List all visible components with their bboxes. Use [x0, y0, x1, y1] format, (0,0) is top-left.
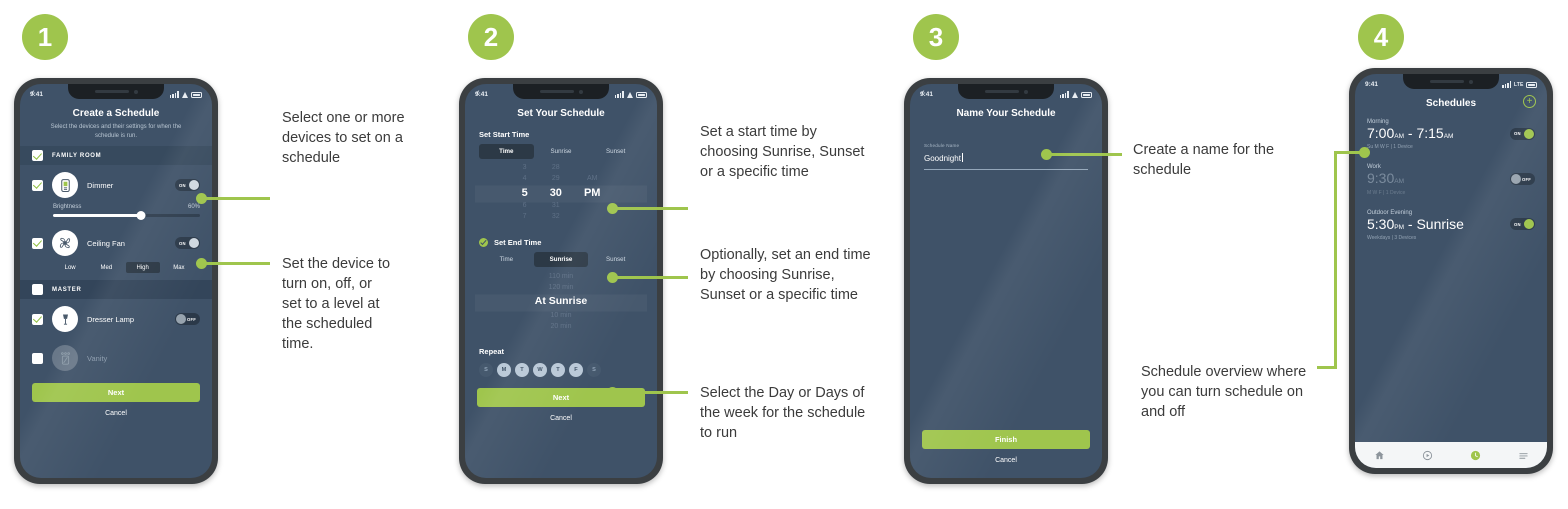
schedule-row-morning[interactable]: Morning 7:00AM - 7:15AM ON Su M W F | 1 … — [1355, 111, 1547, 156]
back-button[interactable]: ‹ — [31, 88, 35, 99]
front-camera — [579, 90, 583, 94]
schedule-start-meridiem: AM — [1394, 178, 1404, 185]
toggle-knob — [1511, 174, 1521, 184]
back-button[interactable]: ‹ — [921, 88, 925, 99]
phone-screen-3: 9:41 ‹ Name Your Schedule Schedule Name … — [910, 84, 1102, 478]
hour-option[interactable]: 6 — [523, 201, 527, 212]
phone-mockup-2: 9:41 ‹ Set Your Schedule Set Start Time … — [459, 78, 663, 484]
schedule-time: 9:30AM — [1367, 171, 1510, 186]
toggle-label: ON — [1514, 131, 1521, 136]
schedule-name-field[interactable]: Schedule Name Goodnight — [924, 143, 1088, 170]
meridiem-selected[interactable]: PM — [584, 185, 601, 202]
schedule-start-time: 5:30 — [1367, 216, 1394, 232]
add-schedule-button[interactable]: + — [1523, 95, 1536, 108]
cancel-button[interactable]: Cancel — [465, 407, 657, 430]
hour-option[interactable]: 4 — [523, 174, 527, 185]
signal-icon — [1060, 92, 1069, 98]
phone-mockup-4: 9:41 LTE Schedules + Morning 7:00AM - 7:… — [1349, 68, 1553, 474]
device-toggle[interactable]: OFF — [175, 313, 200, 325]
signal-icon — [615, 92, 624, 98]
toggle-knob — [1524, 219, 1534, 229]
annotation-3: Set a start time by choosing Sunrise, Su… — [700, 122, 875, 182]
room-label: MASTER — [52, 287, 82, 293]
toggle-label: ON — [179, 241, 186, 246]
schedule-time: 5:30PM - Sunrise — [1367, 217, 1510, 232]
device-checkbox[interactable] — [32, 353, 43, 364]
device-name: Vanity — [87, 354, 200, 363]
tab-sunrise[interactable]: Sunrise — [534, 144, 589, 159]
cancel-button[interactable]: Cancel — [910, 449, 1102, 472]
lte-label: LTE — [1514, 82, 1524, 88]
phone-mockup-3: 9:41 ‹ Name Your Schedule Schedule Name … — [904, 78, 1108, 484]
meridiem-option[interactable] — [591, 163, 593, 174]
toggle-label: ON — [1514, 222, 1521, 227]
device-row-dimmer[interactable]: Dimmer ON — [20, 165, 212, 204]
toggle-label: OFF — [1522, 177, 1531, 182]
speaker-grille — [985, 90, 1019, 93]
repeat-label: Repeat — [479, 347, 504, 356]
brightness-slider-block[interactable]: Brightness 60% — [20, 204, 212, 223]
device-checkbox[interactable] — [32, 180, 43, 191]
minute-option[interactable]: 28 — [552, 163, 560, 174]
fan-speed-selector[interactable]: Low Med High Max — [20, 262, 212, 280]
device-row-dresser-lamp[interactable]: Dresser Lamp OFF — [20, 299, 212, 338]
page-title: Create a Schedule — [20, 102, 212, 121]
battery-icon — [1526, 82, 1537, 88]
start-time-label: Set Start Time — [479, 130, 529, 139]
day-wednesday[interactable]: W — [533, 363, 547, 377]
hour-option[interactable]: 3 — [523, 163, 527, 174]
schedule-name-value: Goodnight — [924, 154, 961, 163]
device-name: Dimmer — [87, 181, 166, 190]
page-subtitle: Select the devices and their settings fo… — [20, 121, 212, 146]
vanity-icon — [52, 345, 78, 371]
range-dash: - — [1408, 125, 1413, 141]
start-time-picker[interactable]: 3 4 5 6 7 28 29 30 31 32 AM PM — [465, 159, 657, 229]
clock-icon[interactable] — [1470, 450, 1481, 461]
meridiem-option[interactable] — [591, 201, 593, 212]
hour-column[interactable]: 3 4 5 6 7 — [522, 163, 528, 223]
battery-icon — [1081, 92, 1092, 98]
brightness-label: Brightness — [53, 204, 81, 210]
range-dash: - — [1408, 216, 1413, 232]
schedule-subtitle: Weekdays | 3 Devices — [1367, 235, 1535, 241]
step-badge-3: 3 — [913, 14, 959, 60]
notch — [513, 84, 609, 99]
brightness-slider-fill — [53, 214, 141, 217]
annotation-2: Set the device to turn on, off, or set t… — [282, 254, 392, 354]
step-badge-4: 4 — [1358, 14, 1404, 60]
text-caret — [962, 153, 963, 162]
schedule-name-label: Schedule Name — [924, 143, 1088, 148]
step-number: 3 — [929, 24, 943, 50]
day-sunday[interactable]: S — [479, 363, 493, 377]
tab-sunset[interactable]: Sunset — [588, 144, 643, 159]
dimmer-icon — [52, 172, 78, 198]
schedule-end-meridiem: AM — [1444, 133, 1454, 140]
phone-screen-1: 9:41 ‹ Create a Schedule Select the devi… — [20, 84, 212, 478]
next-button[interactable]: Next — [32, 383, 200, 402]
minute-option[interactable]: 31 — [552, 201, 560, 212]
device-checkbox[interactable] — [32, 238, 43, 249]
step-badge-2: 2 — [468, 14, 514, 60]
finish-button[interactable]: Finish — [922, 430, 1090, 449]
start-time-mode-tabs[interactable]: Time Sunrise Sunset — [479, 144, 643, 159]
schedule-toggle[interactable]: OFF — [1510, 173, 1535, 185]
phone-mockup-1: 9:41 ‹ Create a Schedule Select the devi… — [14, 78, 218, 484]
signal-icon — [1502, 82, 1511, 88]
notch — [1403, 74, 1499, 89]
day-monday[interactable]: M — [497, 363, 511, 377]
minute-option[interactable]: 29 — [552, 174, 560, 185]
toggle-knob — [1524, 129, 1534, 139]
battery-icon — [191, 92, 202, 98]
front-camera — [1024, 90, 1028, 94]
back-button[interactable]: ‹ — [476, 88, 480, 99]
repeat-day-selector[interactable]: S M T W T F S — [465, 361, 657, 377]
repeat-heading: Repeat — [465, 338, 657, 361]
minute-option[interactable]: 32 — [552, 212, 560, 223]
end-time-heading[interactable]: Set End Time — [465, 229, 657, 252]
device-name: Dresser Lamp — [87, 315, 166, 324]
schedule-time: 7:00AM - 7:15AM — [1367, 126, 1510, 141]
schedule-toggle[interactable]: ON — [1510, 218, 1535, 230]
tab-time[interactable]: Time — [479, 144, 534, 159]
toggle-knob — [189, 180, 199, 190]
room-checkbox[interactable] — [32, 150, 43, 161]
leader-line-7b — [1334, 151, 1337, 369]
annotation-1: Select one or more devices to set on a s… — [282, 108, 407, 168]
fan-level-high[interactable]: High — [126, 262, 160, 273]
toggle-label: OFF — [187, 317, 196, 322]
room-checkbox[interactable] — [32, 284, 43, 295]
step-number: 2 — [484, 24, 498, 50]
annotation-6: Create a name for the schedule — [1133, 140, 1298, 180]
fan-level-low[interactable]: Low — [53, 262, 87, 273]
meridiem-column[interactable]: AM PM — [584, 163, 601, 223]
meridiem-option[interactable]: AM — [587, 174, 598, 185]
toggle-knob — [189, 238, 199, 248]
start-time-heading: Set Start Time — [465, 121, 657, 144]
notch — [958, 84, 1054, 99]
schedule-name-input[interactable]: Goodnight — [924, 153, 963, 163]
schedule-subtitle: M W F | 1 Device — [1367, 190, 1535, 196]
step-number: 1 — [38, 24, 52, 50]
minute-selected[interactable]: 30 — [550, 185, 562, 202]
wifi-icon — [1072, 92, 1079, 98]
day-tuesday[interactable]: T — [515, 363, 529, 377]
room-header-master[interactable]: MASTER — [20, 280, 212, 299]
end-option[interactable]: 110 min — [465, 271, 657, 282]
toggle-label: ON — [179, 183, 186, 188]
brightness-slider-track[interactable] — [53, 214, 200, 217]
end-option-selected[interactable]: At Sunrise — [465, 293, 657, 310]
speaker-grille — [540, 90, 574, 93]
brightness-value: 60% — [188, 204, 200, 210]
end-option[interactable]: 10 min — [465, 310, 657, 321]
end-option[interactable]: 20 min — [465, 321, 657, 332]
speaker-grille — [95, 90, 129, 93]
device-checkbox[interactable] — [32, 314, 43, 325]
room-header-family-room[interactable]: FAMILY ROOM — [20, 146, 212, 165]
signal-icon — [170, 92, 179, 98]
schedule-subtitle: Su M W F | 1 Device — [1367, 144, 1535, 150]
device-toggle[interactable]: ON — [175, 237, 200, 249]
end-time-picker[interactable]: 110 min 120 min At Sunrise 10 min 20 min — [465, 267, 657, 339]
day-thursday[interactable]: T — [551, 363, 565, 377]
device-row-vanity[interactable]: Vanity — [20, 338, 212, 377]
fan-level-med[interactable]: Med — [89, 262, 123, 273]
home-icon[interactable] — [1374, 450, 1385, 461]
wifi-icon — [182, 92, 189, 98]
notch — [68, 84, 164, 99]
brightness-slider-knob[interactable] — [137, 211, 146, 220]
phone-screen-2: 9:41 ‹ Set Your Schedule Set Start Time … — [465, 84, 657, 478]
battery-icon — [636, 92, 647, 98]
day-saturday[interactable]: S — [587, 363, 601, 377]
hour-option[interactable]: 7 — [523, 212, 527, 223]
schedule-end-time: Sunrise — [1416, 216, 1463, 232]
device-row-ceiling-fan[interactable]: Ceiling Fan ON — [20, 223, 212, 262]
step-badge-1: 1 — [22, 14, 68, 60]
status-time: 9:41 — [1365, 81, 1378, 88]
annotation-7: Schedule overview where you can turn sch… — [1141, 362, 1321, 422]
step-number: 4 — [1374, 24, 1388, 50]
device-toggle[interactable]: ON — [175, 179, 200, 191]
schedule-start-meridiem: AM — [1394, 133, 1404, 140]
front-camera — [1469, 80, 1473, 84]
cancel-button[interactable]: Cancel — [20, 402, 212, 425]
tab-time[interactable]: Time — [479, 252, 534, 267]
schedule-start-time: 9:30 — [1367, 170, 1394, 186]
tab-sunrise[interactable]: Sunrise — [534, 252, 589, 267]
annotation-5: Select the Day or Days of the week for t… — [700, 383, 870, 443]
minute-column[interactable]: 28 29 30 31 32 — [550, 163, 562, 223]
schedule-row-outdoor-evening[interactable]: Outdoor Evening 5:30PM - Sunrise ON Week… — [1355, 202, 1547, 247]
end-time-label: Set End Time — [494, 238, 541, 247]
tab-sunset[interactable]: Sunset — [588, 252, 643, 267]
menu-icon[interactable] — [1518, 450, 1529, 461]
page-title: Schedules — [1355, 92, 1547, 111]
page-title: Set Your Schedule — [465, 102, 657, 121]
front-camera — [134, 90, 138, 94]
phone-screen-4: 9:41 LTE Schedules + Morning 7:00AM - 7:… — [1355, 74, 1547, 468]
page-title: Name Your Schedule — [910, 102, 1102, 121]
schedule-end-time: 7:15 — [1416, 125, 1443, 141]
toggle-knob — [176, 314, 186, 324]
day-friday[interactable]: F — [569, 363, 583, 377]
schedule-start-time: 7:00 — [1367, 125, 1394, 141]
schedule-toggle[interactable]: ON — [1510, 128, 1535, 140]
room-label: FAMILY ROOM — [52, 153, 101, 159]
meridiem-option[interactable] — [591, 212, 593, 223]
schedule-row-work[interactable]: Work 9:30AM OFF M W F | 1 Device — [1355, 156, 1547, 201]
hour-selected[interactable]: 5 — [522, 185, 528, 202]
next-button[interactable]: Next — [477, 388, 645, 407]
leader-line-2 — [205, 262, 270, 265]
lamp-icon — [52, 306, 78, 332]
schedule-start-meridiem: PM — [1394, 224, 1404, 231]
fan-level-max[interactable]: Max — [162, 262, 196, 273]
device-name: Ceiling Fan — [87, 239, 166, 248]
end-time-mode-tabs[interactable]: Time Sunrise Sunset — [479, 252, 643, 267]
annotation-4: Optionally, set an end time by choosing … — [700, 245, 875, 305]
scenes-icon[interactable] — [1422, 450, 1433, 461]
fan-icon — [52, 230, 78, 256]
leader-line-1 — [205, 197, 270, 200]
end-time-enabled-check[interactable] — [479, 238, 488, 247]
bottom-tab-bar[interactable] — [1355, 442, 1547, 468]
end-option[interactable]: 120 min — [465, 282, 657, 293]
wifi-icon — [627, 92, 634, 98]
speaker-grille — [1430, 80, 1464, 83]
